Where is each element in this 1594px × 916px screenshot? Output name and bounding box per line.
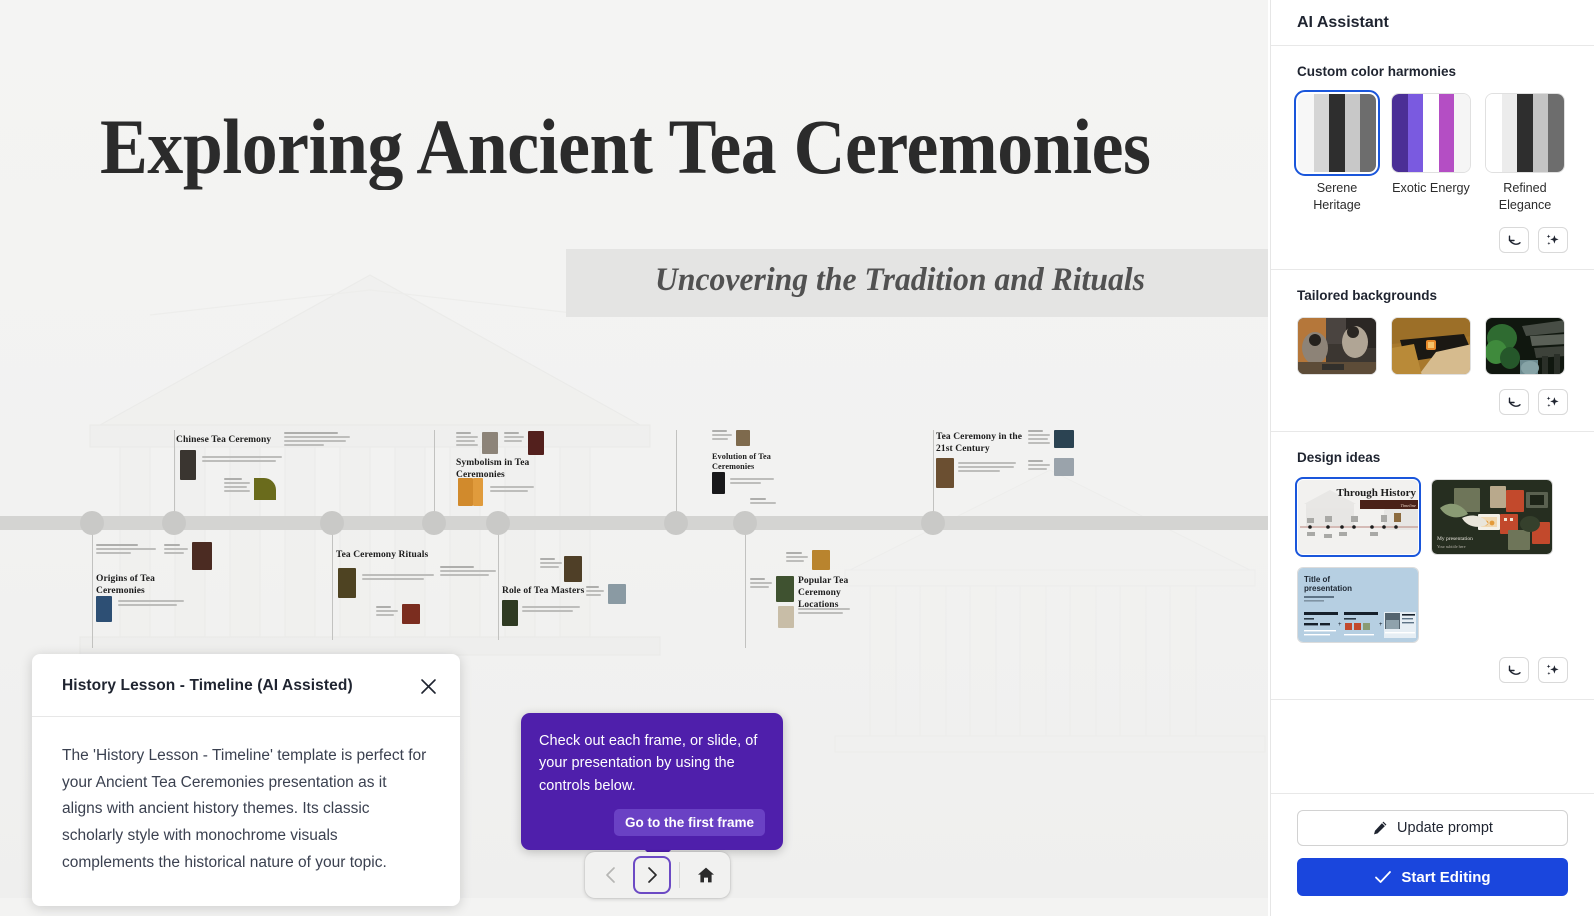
mini-slide-image — [776, 576, 794, 602]
mini-slide-title: Origins of Tea Ceremonies — [96, 574, 164, 598]
mini-slide-heading — [96, 544, 156, 556]
section-title: Custom color harmonies — [1297, 64, 1568, 79]
mini-slide-text — [202, 456, 282, 464]
sidebar-title: AI Assistant — [1297, 14, 1389, 32]
chevron-right-icon — [644, 866, 660, 884]
tooltip-actions: Go to the first frame — [539, 809, 765, 836]
mini-slide-text — [750, 498, 776, 506]
next-frame-button[interactable] — [633, 856, 671, 894]
nav-separator — [679, 862, 680, 888]
mini-slide-text — [958, 462, 1016, 474]
design-idea-dark-green-collage[interactable]: My presentation Your subtitle here — [1431, 479, 1553, 555]
mini-slide-text — [376, 606, 398, 618]
section-design-ideas: Design ideas Through History — [1271, 432, 1594, 700]
color-harmony-option-refined-elegance[interactable]: Refined Elegance — [1485, 93, 1565, 213]
design-idea-preview: My presentation Your subtitle here — [1432, 480, 1553, 555]
color-harmony-option-exotic-energy[interactable]: Exotic Energy — [1391, 93, 1471, 213]
mini-slide-image — [482, 432, 498, 454]
background-preview-image — [1392, 318, 1471, 375]
info-card-title: History Lesson - Timeline (AI Assisted) — [62, 677, 353, 695]
mini-slide-image — [608, 584, 626, 604]
timeline-stem — [174, 430, 175, 516]
mini-slide-text — [798, 608, 850, 616]
chevron-left-icon — [603, 866, 619, 884]
mini-slide-title: Role of Tea Masters — [502, 586, 598, 598]
svg-text:Your subtitle here: Your subtitle here — [1437, 544, 1466, 549]
timeline-node[interactable] — [320, 511, 344, 535]
undo-icon-glyph — [1507, 234, 1522, 247]
mini-slide-text — [118, 600, 184, 608]
color-harmony-swatch[interactable] — [1391, 93, 1471, 173]
mini-slide-text — [540, 558, 562, 570]
update-prompt-label: Update prompt — [1397, 820, 1493, 836]
background-thumbnail-tea-table[interactable] — [1391, 317, 1471, 375]
presentation-canvas[interactable]: Exploring Ancient Tea Ceremonies Uncover… — [0, 0, 1268, 916]
mini-slide-text — [362, 574, 434, 582]
color-harmony-actions — [1297, 227, 1568, 253]
mini-slide-text — [750, 578, 772, 590]
background-preview-image — [1298, 318, 1377, 375]
sparkle-icon[interactable] — [1538, 657, 1568, 683]
design-idea-list: Through History Timeline — [1297, 479, 1568, 643]
timeline-stem — [933, 430, 934, 516]
background-actions — [1297, 389, 1568, 415]
mini-slide-text — [490, 486, 534, 494]
timeline-slide-tea-ceremony-21st-century[interactable]: Tea Ceremony in the 21st Century — [936, 430, 1126, 510]
mini-slide-text — [1028, 430, 1050, 446]
mini-slide-image — [528, 431, 544, 455]
mini-slide-title: Popular Tea Ceremony Locations — [798, 576, 878, 612]
timeline-node[interactable] — [80, 511, 104, 535]
svg-text:Timeline: Timeline — [1401, 503, 1417, 508]
onboarding-tooltip: Check out each frame, or slide, of your … — [521, 713, 783, 850]
timeline-slide-symbolism-in-tea-ceremonies[interactable]: Symbolism in Tea Ceremonies — [456, 430, 656, 510]
mini-slide-text — [730, 478, 774, 486]
color-harmony-swatch[interactable] — [1297, 93, 1377, 173]
timeline-node[interactable] — [921, 511, 945, 535]
frame-navigation-bar — [585, 852, 730, 898]
sidebar-header: AI Assistant — [1271, 0, 1594, 46]
tooltip-text: Check out each frame, or slide, of your … — [539, 730, 765, 797]
mini-slide-image — [736, 430, 750, 446]
mini-slide-image — [564, 556, 582, 582]
template-info-card: History Lesson - Timeline (AI Assisted) … — [32, 654, 460, 906]
timeline-slide-role-of-tea-masters[interactable]: Role of Tea Masters — [502, 558, 702, 638]
sidebar-footer: Update prompt Start Editing — [1271, 793, 1594, 916]
mini-slide-image — [338, 568, 356, 598]
timeline-node[interactable] — [486, 511, 510, 535]
info-card-header: History Lesson - Timeline (AI Assisted) — [32, 654, 460, 717]
timeline-bar — [0, 516, 1268, 530]
mini-slide-text — [786, 552, 808, 564]
sparkle-icon[interactable] — [1538, 227, 1568, 253]
mini-slide-image — [936, 458, 954, 488]
slide-title: Exploring Ancient Tea Ceremonies — [100, 108, 1186, 186]
mini-slide-text — [440, 566, 496, 578]
timeline-stem — [745, 530, 746, 648]
sparkle-icon-glyph — [1545, 395, 1561, 410]
color-harmony-label: Serene Heritage — [1297, 180, 1377, 213]
svg-text:My presentation: My presentation — [1437, 536, 1473, 542]
timeline-node[interactable] — [733, 511, 757, 535]
mini-slide-text — [586, 586, 604, 598]
mini-slide-image — [180, 450, 196, 480]
close-icon[interactable] — [414, 672, 442, 700]
color-harmony-list: Serene Heritage Exotic Energy — [1297, 93, 1568, 213]
section-tailored-backgrounds: Tailored backgrounds — [1271, 270, 1594, 432]
mini-slide-image — [812, 550, 830, 570]
background-thumbnail-tea-makers[interactable] — [1297, 317, 1377, 375]
undo-icon[interactable] — [1499, 389, 1529, 415]
color-harmony-option-serene-heritage[interactable]: Serene Heritage — [1297, 93, 1377, 213]
svg-text:presentation: presentation — [1304, 584, 1352, 593]
design-idea-through-history-timeline[interactable]: Through History Timeline — [1297, 479, 1419, 555]
mini-slide-title: Chinese Tea Ceremony — [176, 435, 286, 447]
mini-slide-image — [502, 600, 518, 626]
svg-text:Through History: Through History — [1336, 487, 1416, 499]
mini-slide-image — [254, 478, 276, 500]
svg-text:+: + — [1379, 622, 1383, 628]
home-icon — [697, 866, 715, 884]
sidebar-scroll-area[interactable]: Custom color harmonies Serene Heritage — [1271, 46, 1594, 793]
slide-subtitle: Uncovering the Tradition and Rituals — [655, 262, 1268, 299]
section-title: Tailored backgrounds — [1297, 288, 1568, 303]
sparkle-icon[interactable] — [1538, 389, 1568, 415]
timeline-slide-chinese-tea-ceremony[interactable]: Chinese Tea Ceremony — [176, 430, 396, 510]
mini-slide-image — [192, 542, 212, 570]
update-prompt-button[interactable]: Update prompt — [1297, 810, 1568, 846]
undo-icon[interactable] — [1499, 657, 1529, 683]
mini-slide-image — [778, 606, 794, 628]
mini-slide-title: Tea Ceremony Rituals — [336, 550, 446, 562]
background-preview-image — [1486, 318, 1565, 375]
design-idea-preview: Title of presentation + — [1298, 568, 1419, 643]
sparkle-icon-glyph — [1545, 233, 1561, 248]
mini-slide-text — [164, 544, 188, 556]
timeline-node[interactable] — [162, 511, 186, 535]
mini-slide-image — [1054, 458, 1074, 476]
mini-slide-image — [458, 478, 473, 506]
timeline-stem — [434, 430, 435, 516]
design-idea-light-blue-timeline[interactable]: Title of presentation + — [1297, 567, 1419, 643]
mini-slide-text — [284, 432, 350, 448]
timeline-node[interactable] — [664, 511, 688, 535]
mini-slide-title: Evolution of Tea Ceremonies — [712, 452, 772, 473]
timeline-stem — [92, 530, 93, 648]
mini-slide-image — [473, 478, 483, 506]
design-idea-preview: Through History Timeline — [1298, 480, 1419, 555]
mini-slide-text — [1028, 460, 1050, 472]
timeline-stem — [676, 430, 677, 516]
start-editing-label: Start Editing — [1401, 869, 1490, 886]
timeline-slide-evolution-of-tea-ceremonies[interactable]: Evolution of Tea Ceremonies — [712, 430, 872, 510]
section-color-harmonies: Custom color harmonies Serene Heritage — [1271, 46, 1594, 270]
background-thumbnail-list — [1297, 317, 1568, 375]
background-thumbnail-pagoda-garden[interactable] — [1485, 317, 1565, 375]
home-button[interactable] — [686, 856, 726, 894]
color-harmony-label: Exotic Energy — [1391, 180, 1471, 197]
check-icon — [1374, 870, 1392, 884]
timeline-slide-popular-tea-ceremony-locations[interactable]: Popular Tea Ceremony Locations — [750, 552, 950, 642]
start-editing-button[interactable]: Start Editing — [1297, 858, 1568, 896]
mini-slide-text — [522, 606, 580, 614]
mini-slide-text — [504, 432, 524, 444]
color-harmony-swatch[interactable] — [1485, 93, 1565, 173]
undo-icon-glyph — [1507, 396, 1522, 409]
info-card-body: The 'History Lesson - Timeline' template… — [32, 717, 460, 906]
mini-slide-image — [402, 604, 420, 624]
svg-text:+: + — [1338, 622, 1342, 628]
undo-icon[interactable] — [1499, 227, 1529, 253]
previous-frame-button[interactable] — [591, 856, 631, 894]
mini-slide-image — [96, 596, 112, 622]
sparkle-icon-glyph — [1545, 663, 1561, 678]
section-title: Design ideas — [1297, 450, 1568, 465]
timeline-node[interactable] — [422, 511, 446, 535]
design-idea-actions — [1297, 657, 1568, 683]
pencil-icon — [1372, 820, 1388, 836]
go-to-first-frame-button[interactable]: Go to the first frame — [614, 809, 765, 836]
mini-slide-text — [224, 478, 250, 494]
close-icon-glyph — [420, 678, 437, 695]
mini-slide-text — [712, 430, 732, 442]
mini-slide-image — [712, 472, 725, 494]
mini-slide-image — [1054, 430, 1074, 448]
svg-text:Title of: Title of — [1304, 575, 1330, 584]
mini-slide-text — [456, 432, 478, 448]
mini-slide-title: Tea Ceremony in the 21st Century — [936, 432, 1024, 456]
timeline-stem — [332, 530, 333, 640]
timeline-slide-origins-of-tea-ceremonies[interactable]: Origins of Tea Ceremonies — [96, 542, 296, 632]
ai-assistant-sidebar: AI Assistant Custom color harmonies Sere… — [1270, 0, 1594, 916]
undo-icon-glyph — [1507, 664, 1522, 677]
color-harmony-label: Refined Elegance — [1485, 180, 1565, 213]
